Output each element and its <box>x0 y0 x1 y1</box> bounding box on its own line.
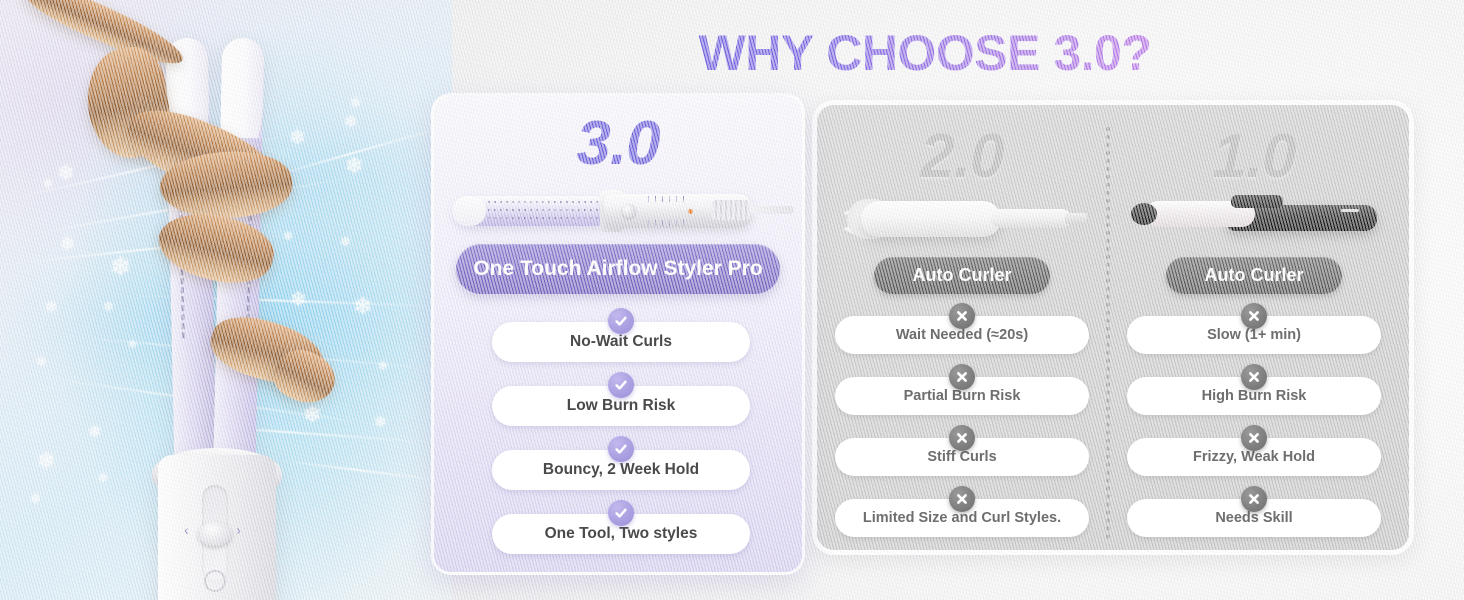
snowflake-icon: ❄ <box>340 235 351 248</box>
check-icon <box>608 436 634 462</box>
version-label-3-0: 3.0 <box>434 108 802 179</box>
version-label-1-0: 1.0 <box>1109 121 1399 192</box>
list-item: Needs Skill <box>1127 486 1381 547</box>
list-item: One Tool, Two styles <box>492 500 750 564</box>
list-item: Limited Size and Curl Styles. <box>835 486 1089 547</box>
snowflake-icon: ❄ <box>43 178 53 190</box>
snowflake-icon: ❄ <box>350 96 361 109</box>
check-icon <box>608 372 634 398</box>
list-item: Partial Burn Risk <box>835 364 1089 425</box>
x-icon <box>1241 303 1267 329</box>
snowflake-icon: ❄ <box>57 163 75 184</box>
check-icon <box>608 308 634 334</box>
list-item: Slow (1+ min) <box>1127 303 1381 364</box>
con-list-1-0: Slow (1+ min) High Burn Risk <box>1127 303 1381 547</box>
list-item: Bouncy, 2 Week Hold <box>492 436 750 500</box>
x-icon <box>949 364 975 390</box>
chevron-right-icon: › <box>236 522 241 539</box>
page-title: WHY CHOOSE 3.0? <box>660 24 1190 82</box>
snowflake-icon: ❄ <box>98 472 108 484</box>
product-label-2-0: Auto Curler <box>874 257 1050 294</box>
snowflake-icon: ❄ <box>289 128 306 148</box>
snowflake-icon: ❄ <box>290 290 307 310</box>
x-icon <box>1241 364 1267 390</box>
product-image-3-0 <box>452 182 792 238</box>
check-icon <box>608 500 634 526</box>
snowflake-icon: ❄ <box>283 230 293 242</box>
product-image-1-0 <box>1123 183 1385 253</box>
featured-product-card-3-0: 3.0 One Touch Airflow Styler Pro <box>431 93 805 575</box>
x-icon <box>949 486 975 512</box>
power-slider-knob[interactable] <box>198 522 232 546</box>
list-item: Low Burn Risk <box>492 372 750 436</box>
list-item: No-Wait Curls <box>492 308 750 372</box>
version-label-2-0: 2.0 <box>817 121 1107 192</box>
product-banner-3-0: One Touch Airflow Styler Pro <box>456 244 780 294</box>
snowflake-icon: ❄ <box>374 415 387 430</box>
comparison-column-1-0: 1.0 Auto Curler Slow (1+ min) <box>1109 105 1399 550</box>
snowflake-icon: ❄ <box>345 155 363 177</box>
snowflake-icon: ❄ <box>353 295 372 318</box>
snowflake-icon: ❄ <box>30 492 41 505</box>
snowflake-icon: ❄ <box>344 115 357 131</box>
list-item: Frizzy, Weak Hold <box>1127 425 1381 486</box>
snowflake-icon: ❄ <box>60 235 75 253</box>
snowflake-icon: ❄ <box>378 360 388 372</box>
snowflake-icon: ❄ <box>45 300 58 315</box>
promo-banner: ❄ ❄ ❄ ❄ ❄ ❄ ❄ ❄ ❄ ❄ ❄ ❄ ❄ ❄ ❄ ❄ ❄ ❄ ❄ ❄ … <box>0 0 1464 600</box>
snowflake-icon: ❄ <box>36 355 47 368</box>
snowflake-icon: ❄ <box>110 255 131 280</box>
comparison-column-2-0: 2.0 Auto Curler Wait Needed (≈20s) <box>817 105 1107 550</box>
product-image-2-0 <box>831 183 1093 253</box>
feature-list-3-0: No-Wait Curls Low Burn Risk Bouncy, 2 We… <box>492 308 750 564</box>
mode-button[interactable] <box>204 570 226 592</box>
list-item: High Burn Risk <box>1127 364 1381 425</box>
snowflake-icon: ❄ <box>37 450 55 472</box>
x-icon <box>1241 425 1267 451</box>
chevron-left-icon: ‹ <box>184 522 189 539</box>
hero-product-image: ❄ ❄ ❄ ❄ ❄ ❄ ❄ ❄ ❄ ❄ ❄ ❄ ❄ ❄ ❄ ❄ ❄ ❄ ❄ ❄ … <box>0 0 452 600</box>
snowflake-icon: ❄ <box>128 340 137 351</box>
x-icon <box>949 425 975 451</box>
list-item: Stiff Curls <box>835 425 1089 486</box>
x-icon <box>1241 486 1267 512</box>
list-item: Wait Needed (≈20s) <box>835 303 1089 364</box>
snowflake-icon: ❄ <box>88 425 101 441</box>
legacy-comparison-panel: 2.0 Auto Curler Wait Needed (≈20s) <box>812 100 1414 555</box>
product-label-1-0: Auto Curler <box>1166 257 1342 294</box>
x-icon <box>949 303 975 329</box>
con-list-2-0: Wait Needed (≈20s) Partial Burn Risk <box>835 303 1089 547</box>
snowflake-icon: ❄ <box>103 300 114 313</box>
